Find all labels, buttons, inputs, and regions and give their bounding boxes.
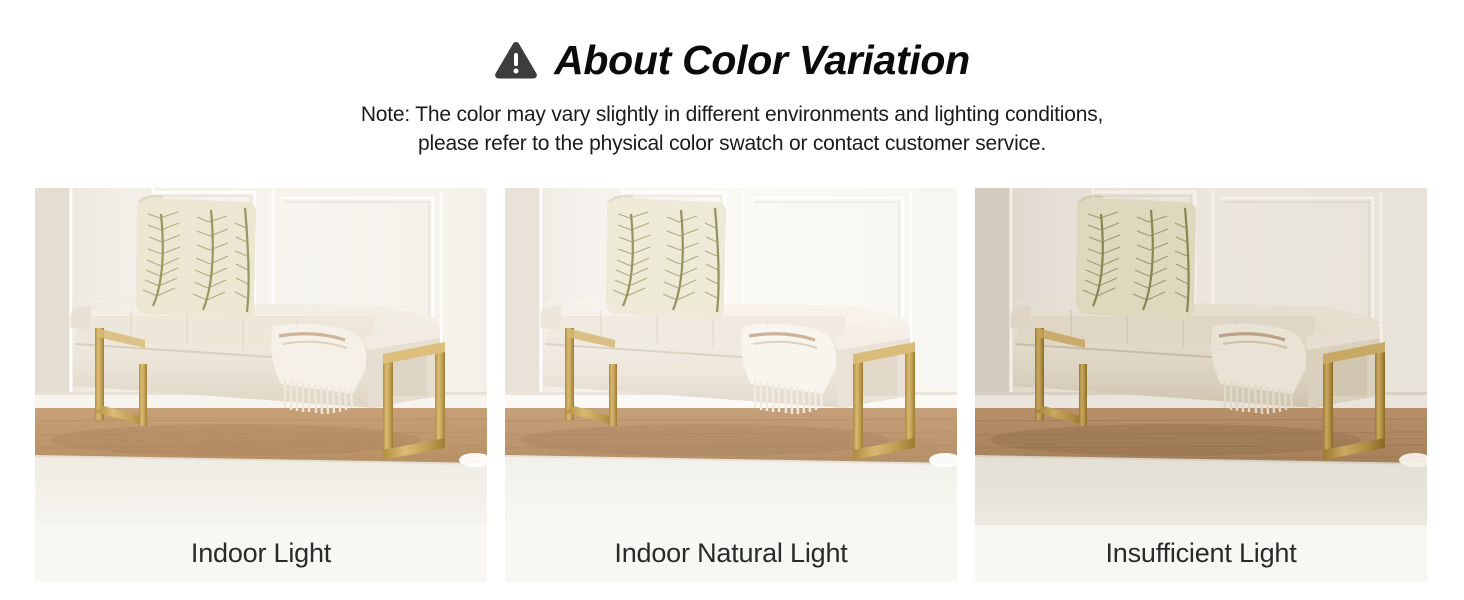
leaf-pillow <box>606 196 726 319</box>
variant-panel-indoor-natural-light[interactable]: Indoor Natural Light <box>505 188 957 582</box>
bench-scene-illustration <box>505 188 957 525</box>
bench-scene-illustration <box>35 188 487 525</box>
caption-insufficient-light: Insufficient Light <box>975 525 1427 582</box>
note-line-2: please refer to the physical color swatc… <box>0 129 1464 158</box>
color-variation-infographic: About Color Variation Note: The color ma… <box>0 0 1464 600</box>
caption-indoor-light: Indoor Light <box>35 525 487 582</box>
caption-indoor-natural-light: Indoor Natural Light <box>505 525 957 582</box>
leaf-pillow <box>1076 196 1196 319</box>
title-row: About Color Variation <box>0 34 1464 86</box>
variant-panel-indoor-light[interactable]: Indoor Light <box>35 188 487 582</box>
variant-panel-insufficient-light[interactable]: Insufficient Light <box>975 188 1427 582</box>
header: About Color Variation Note: The color ma… <box>0 0 1464 158</box>
leaf-pillow <box>136 196 256 319</box>
bench-scene-illustration <box>975 188 1427 525</box>
note-text: Note: The color may vary slightly in dif… <box>0 100 1464 158</box>
note-line-1: Note: The color may vary slightly in dif… <box>0 100 1464 129</box>
product-photo-insufficient-light[interactable] <box>975 188 1427 525</box>
page-title: About Color Variation <box>554 40 970 81</box>
variant-panels: Indoor Light <box>35 188 1428 582</box>
product-photo-indoor-natural-light[interactable] <box>505 188 957 525</box>
warning-triangle-icon <box>494 40 538 80</box>
product-photo-indoor-light[interactable] <box>35 188 487 525</box>
